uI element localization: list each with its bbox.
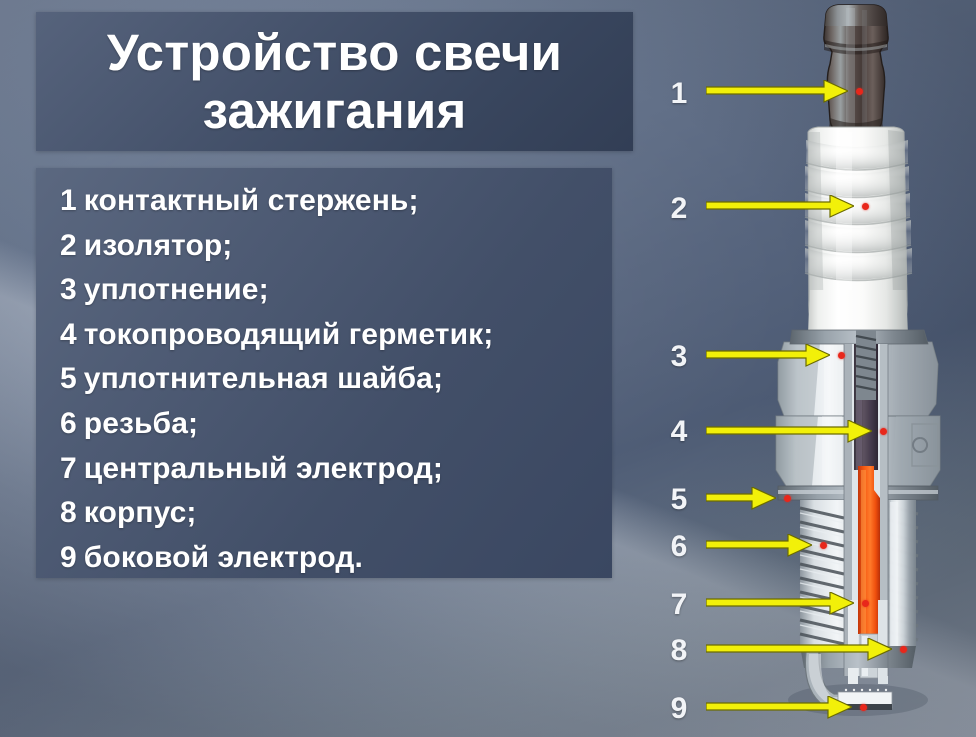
list-item: 3уплотнение; xyxy=(60,268,606,313)
list-item: 1контактный стержень; xyxy=(60,179,606,224)
list-item-number: 5 xyxy=(60,362,77,395)
marker-dot-7 xyxy=(862,600,869,607)
list-item-label: центральный электрод; xyxy=(84,452,443,485)
callout-number-3: 3 xyxy=(664,340,694,374)
callout-number-4: 4 xyxy=(664,415,694,449)
page-title: Устройство свечи зажигания xyxy=(36,12,633,151)
legend-panel: 1контактный стержень; 2изолятор; 3уплотн… xyxy=(36,168,612,578)
list-item: 2изолятор; xyxy=(60,224,606,269)
marker-dot-1 xyxy=(856,88,863,95)
list-item-number: 1 xyxy=(60,184,77,217)
list-item-label: токопроводящий герметик; xyxy=(84,318,494,351)
list-item-number: 2 xyxy=(60,229,77,262)
callout-arrow-1 xyxy=(706,80,848,106)
marker-dot-9 xyxy=(860,704,867,711)
callout-arrow-8 xyxy=(706,638,892,664)
callout-arrow-4 xyxy=(706,420,872,446)
marker-dot-5 xyxy=(784,495,791,502)
callout-arrow-2 xyxy=(706,195,854,221)
list-item-label: корпус; xyxy=(84,496,197,529)
list-item: 5уплотнительная шайба; xyxy=(60,357,606,402)
callout-arrow-5 xyxy=(706,487,776,513)
list-item-label: контактный стержень; xyxy=(84,184,419,217)
legend-list: 1контактный стержень; 2изолятор; 3уплотн… xyxy=(60,179,606,580)
callout-number-1: 1 xyxy=(664,77,694,111)
list-item: 9боковой электрод. xyxy=(60,536,606,581)
list-item-label: уплотнительная шайба; xyxy=(84,362,443,395)
callout-number-5: 5 xyxy=(664,483,694,517)
list-item-number: 6 xyxy=(60,407,77,440)
marker-dot-2 xyxy=(862,203,869,210)
list-item-number: 9 xyxy=(60,541,77,574)
list-item: 7центральный электрод; xyxy=(60,447,606,492)
title-panel: Устройство свечи зажигания xyxy=(36,12,633,151)
list-item-label: уплотнение; xyxy=(84,273,269,306)
marker-dot-6 xyxy=(820,542,827,549)
slide-root: Устройство свечи зажигания 1контактный с… xyxy=(0,0,976,737)
callout-number-8: 8 xyxy=(664,634,694,668)
callout-number-9: 9 xyxy=(664,692,694,726)
list-item-label: боковой электрод. xyxy=(84,541,363,574)
marker-dot-8 xyxy=(900,646,907,653)
list-item-number: 8 xyxy=(60,496,77,529)
callout-arrow-3 xyxy=(706,344,830,370)
list-item: 4токопроводящий герметик; xyxy=(60,313,606,358)
list-item-label: изолятор; xyxy=(84,229,233,262)
callout-arrow-6 xyxy=(706,534,812,560)
list-item-number: 4 xyxy=(60,318,77,351)
callout-arrow-9 xyxy=(706,696,852,722)
callout-number-2: 2 xyxy=(664,192,694,226)
page-title-text: Устройство свечи зажигания xyxy=(50,24,619,138)
callout-arrow-7 xyxy=(706,592,854,618)
callout-number-6: 6 xyxy=(664,530,694,564)
list-item-label: резьба; xyxy=(84,407,198,440)
list-item-number: 3 xyxy=(60,273,77,306)
callout-number-7: 7 xyxy=(664,588,694,622)
marker-dot-3 xyxy=(838,352,845,359)
list-item-number: 7 xyxy=(60,452,77,485)
marker-dot-4 xyxy=(880,428,887,435)
list-item: 8корпус; xyxy=(60,491,606,536)
list-item: 6резьба; xyxy=(60,402,606,447)
